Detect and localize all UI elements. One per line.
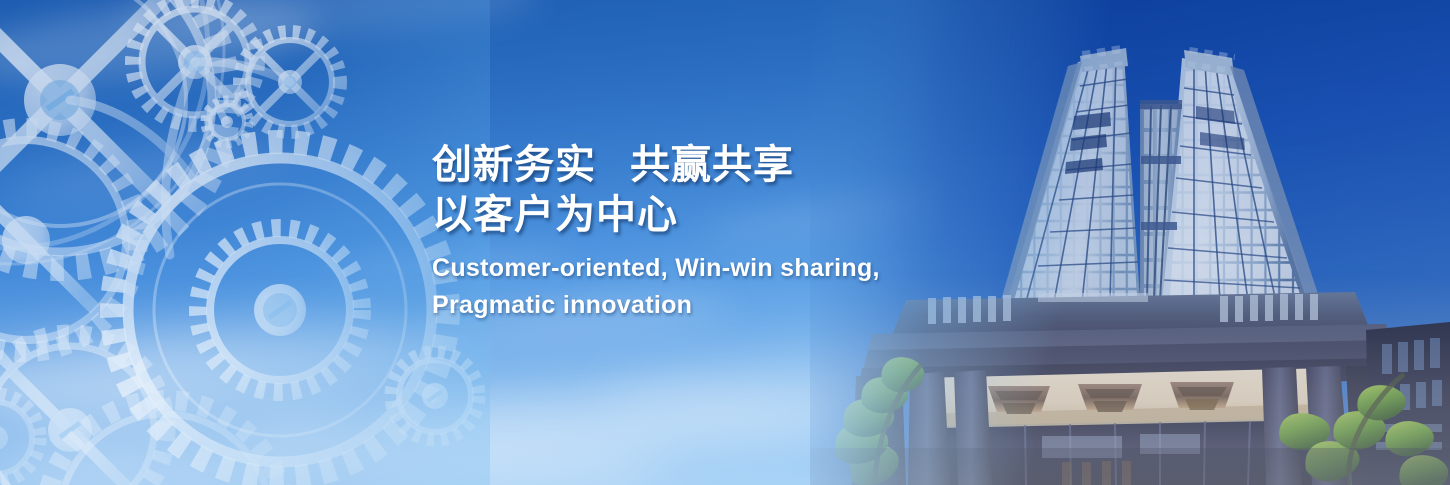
- subtitle-line-2: Pragmatic innovation: [432, 287, 992, 324]
- headline-chinese-line-1: 创新务实共赢共享: [432, 140, 992, 190]
- corporate-hero-banner: 创新务实共赢共享 以客户为中心 Customer-oriented, Win-w…: [0, 0, 1450, 485]
- headline-phrase-1: 创新务实: [432, 143, 596, 187]
- slogan-block: 创新务实共赢共享 以客户为中心 Customer-oriented, Win-w…: [432, 140, 992, 324]
- headline-phrase-2: 共赢共享: [630, 143, 794, 187]
- subtitle-line-1: Customer-oriented, Win-win sharing,: [432, 250, 992, 287]
- subtitle-english: Customer-oriented, Win-win sharing, Prag…: [432, 250, 992, 324]
- headline-chinese-line-2: 以客户为中心: [432, 190, 992, 240]
